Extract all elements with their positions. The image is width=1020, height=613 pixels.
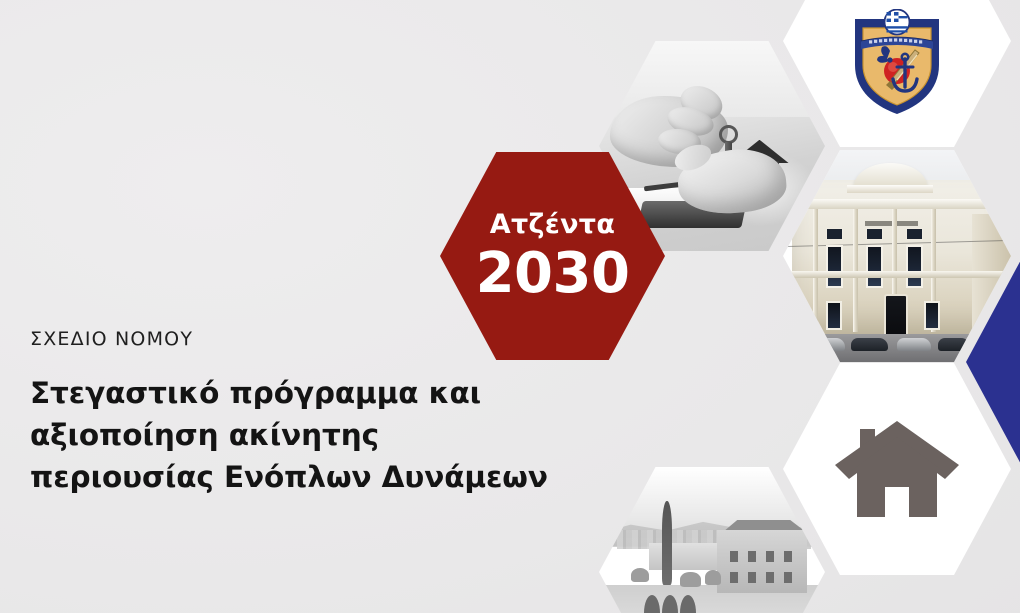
hexagon-village-photo [599,467,825,613]
agenda-year: 2030 [476,246,630,302]
house-icon [833,413,961,525]
village-photo-image [599,467,825,613]
building-photo-image [783,150,1011,362]
kicker-label: ΣΧΕΔΙΟ ΝΟΜΟΥ [30,328,550,351]
hexagon-house-icon [783,363,1011,575]
agenda-text: Ατζέντα 2030 [476,211,630,302]
agenda-word: Ατζέντα [476,211,630,238]
hexagon-building-photo [783,150,1011,362]
text-block: ΣΧΕΔΙΟ ΝΟΜΟΥ Στεγαστικό πρόγραμμα και αξ… [30,328,550,498]
hndgs-emblem-icon [849,9,945,117]
hexagon-emblem [783,0,1011,147]
banner-root: ΣΧΕΔΙΟ ΝΟΜΟΥ Στεγαστικό πρόγραμμα και αξ… [0,0,1020,613]
page-title: Στεγαστικό πρόγραμμα και αξιοποίηση ακίν… [30,373,550,499]
